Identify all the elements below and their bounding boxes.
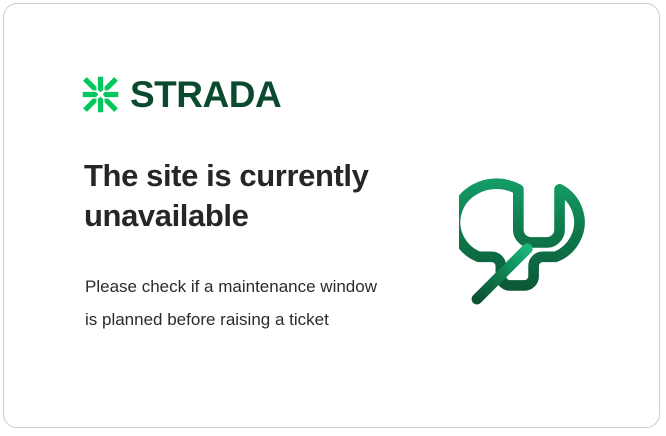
wrench-icon: [459, 159, 614, 319]
page-description: Please check if a maintenance window is …: [85, 270, 385, 336]
error-page: STRADA The site is currently unavailable…: [0, 0, 666, 436]
strada-asterisk-icon: [82, 76, 119, 113]
brand-wordmark: STRADA: [130, 76, 281, 113]
page-title: The site is currently unavailable: [84, 156, 414, 236]
brand-lockup: STRADA: [82, 72, 281, 116]
status-card: STRADA The site is currently unavailable…: [3, 3, 660, 428]
